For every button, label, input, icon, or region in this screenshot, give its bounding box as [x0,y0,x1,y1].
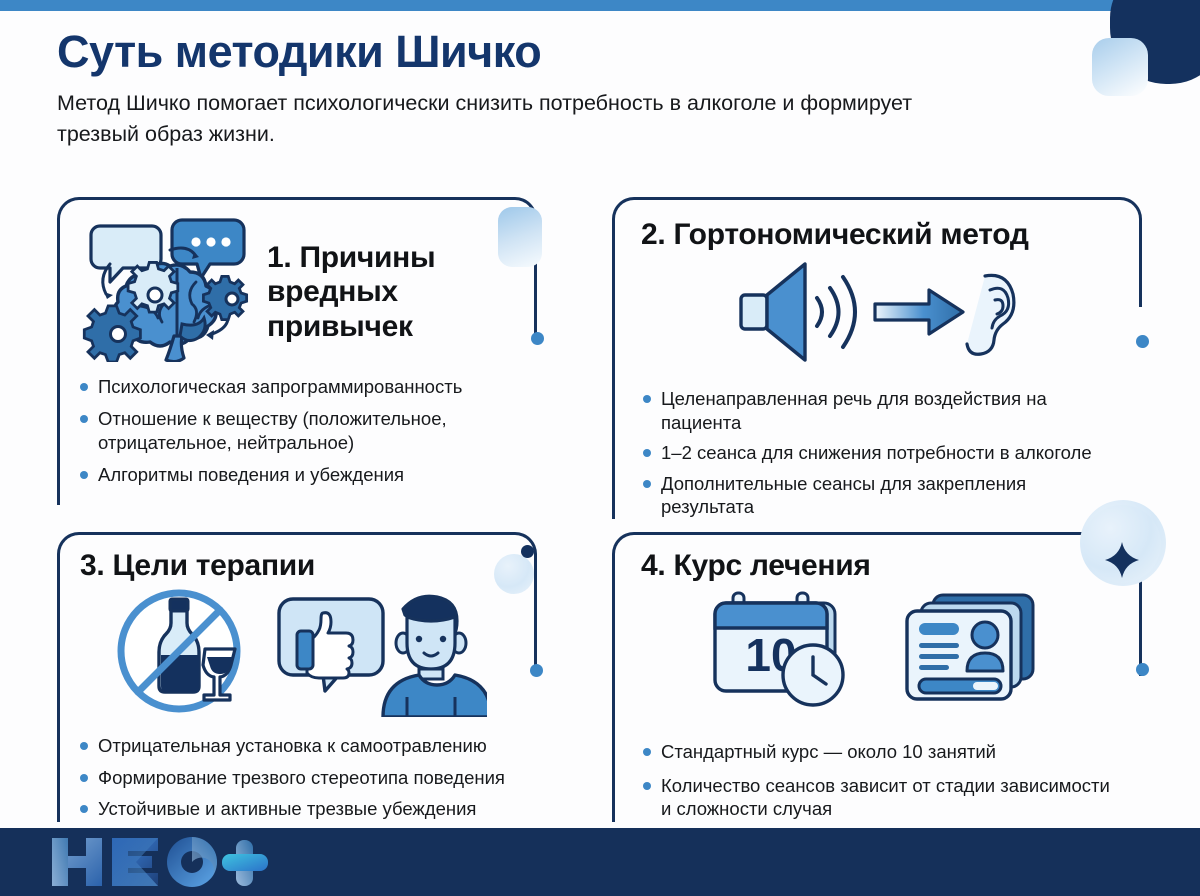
decor-card3-edge-dot [530,664,543,677]
list-item: Дополнительные сеансы для закрепления ре… [641,472,1119,519]
card-bullet-list: Психологическая запрограммированность От… [60,367,534,487]
decor-gradient-square [1092,38,1148,96]
list-item: Отрицательная установка к самоотравлению [78,734,520,757]
card-causes: 1. Причины вредных привычек Психологичес… [57,197,537,505]
infographic-page: Суть методики Шичко Метод Шичко помогает… [0,0,1200,896]
decor-card2-edge-dot [1136,335,1149,348]
card-therapy-goals: 3. Цели терапии [57,532,537,822]
list-item: 1–2 сеанса для снижения потребности в ал… [641,441,1119,464]
list-item: Целенаправленная речь для воздействия на… [641,387,1119,434]
footer-bar [0,828,1200,896]
list-item: Стандартный курс — около 10 занятий [641,740,1117,763]
calendar-clock-icon: 10 [709,589,857,718]
neo-plus-logo [46,834,306,890]
decor-card1-edge-dot [531,332,544,345]
decor-card4-edge-dot [1136,663,1149,676]
header: Суть методики Шичко Метод Шичко помогает… [57,28,1057,149]
card-title: 2. Гортономический метод [615,200,1139,252]
speaker-arrow-ear-icon [727,260,1027,369]
cards-grid: 1. Причины вредных привычек Психологичес… [0,195,1200,830]
list-item: Алгоритмы поведения и убеждения [78,463,518,486]
card-bullet-list: Стандартный курс — около 10 занятий Коли… [615,718,1139,820]
list-item: Психологическая запрограммированность [78,375,518,398]
list-item: Отношение к веществу (положительное, отр… [78,407,518,454]
page-title: Суть методики Шичко [57,28,1057,75]
list-item: Формирование трезвого стереотипа поведен… [78,766,520,789]
decor-card3-navy-dot [521,545,534,558]
card-treatment-course: 4. Курс лечения 10 [612,532,1142,822]
no-alcohol-thumbsup-person-icon [107,585,487,722]
card-title: 4. Курс лечения [615,535,1139,583]
card-title: 3. Цели терапии [60,535,534,583]
list-item: Количество сеансов зависит от стадии зав… [641,774,1117,821]
page-subtitle: Метод Шичко помогает психологически сниз… [57,88,937,149]
brain-gears-speech-bubbles-icon [78,212,263,367]
card-title: 1. Причины вредных привычек [267,235,482,344]
patient-cards-icon [897,589,1045,718]
card-bullet-list: Отрицательная установка к самоотравлению… [60,722,534,820]
list-item: Устойчивые и активные трезвые убеждения [78,797,520,820]
top-accent-bar [0,0,1200,11]
card-bullet-list: Целенаправленная речь для воздействия на… [615,369,1139,518]
card-hortonomic-method: 2. Гортономический метод [612,197,1142,519]
